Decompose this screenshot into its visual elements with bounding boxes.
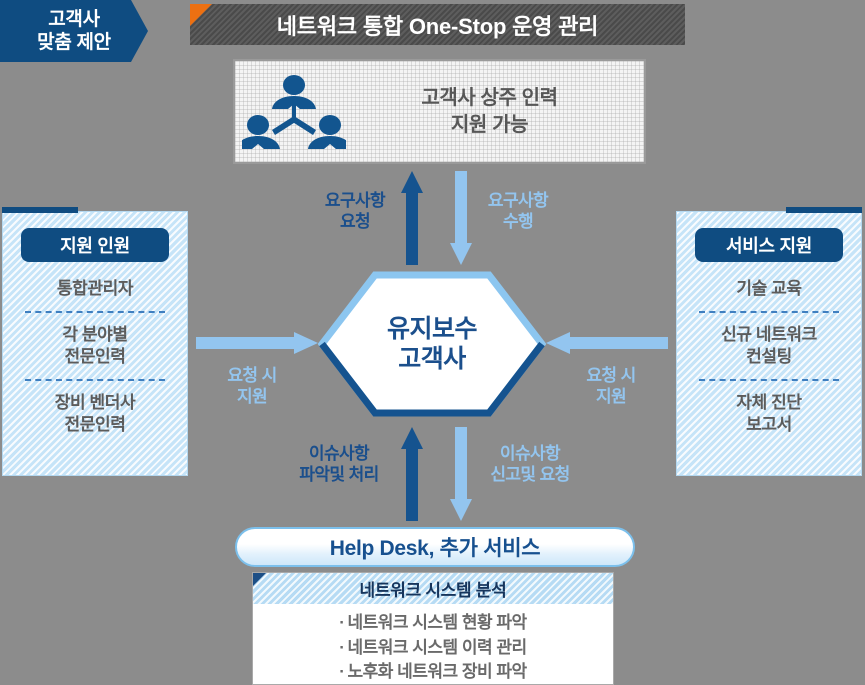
arrow-left-support-on-request <box>196 332 318 354</box>
label-line2: 요청 <box>300 211 410 232</box>
onsite-staff-label: 고객사 상주 인력 지원 가능 <box>353 85 644 138</box>
service-support-item-1: 기술 교육 <box>677 276 861 302</box>
label-requirement-execution: 요구사항 수행 <box>463 190 573 233</box>
panel-divider <box>25 379 165 381</box>
corner-tag-badge: 고객사 맞춤 제안 <box>0 0 148 62</box>
bullet-icon: · <box>339 613 344 632</box>
arrow-issue-handling <box>401 427 423 521</box>
corner-tag-line1: 고객사 <box>48 8 100 31</box>
label-issue-handling: 이슈사항 파악및 처리 <box>274 443 404 486</box>
onsite-staff-box: 고객사 상주 인력 지원 가능 <box>233 59 646 164</box>
label-line1: 요청 시 <box>198 365 306 386</box>
service-support-item-2: 신규 네트워크컨설팅 <box>677 322 861 370</box>
network-analysis-box: 네트워크 시스템 분석 ·네트워크 시스템 현황 파악 ·네트워크 시스템 이력… <box>252 572 614 685</box>
list-item: ·노후화 네트워크 장비 파악 <box>253 660 613 685</box>
people-network-icon <box>235 75 353 149</box>
label-line2: 지원 <box>198 386 306 407</box>
list-item-label: 네트워크 시스템 이력 관리 <box>347 638 526 657</box>
service-support-header: 서비스 지원 <box>695 228 843 262</box>
list-item: ·네트워크 시스템 이력 관리 <box>253 636 613 661</box>
label-line1: 이슈사항 <box>274 443 404 464</box>
onsite-staff-line1: 고객사 상주 인력 <box>353 85 626 111</box>
arrow-right-support-on-request <box>546 332 668 354</box>
corner-tag-line2: 맞춤 제안 <box>37 31 111 54</box>
list-item-label: 노후화 네트워크 장비 파악 <box>347 662 526 681</box>
support-personnel-panel: 지원 인원 통합관리자 각 분야별전문인력 장비 벤더사전문인력 <box>2 211 188 476</box>
network-analysis-title: 네트워크 시스템 분석 <box>360 576 507 601</box>
support-personnel-item-1: 통합관리자 <box>3 276 187 302</box>
label-line1: 요구사항 <box>300 190 410 211</box>
panel-divider <box>699 311 839 313</box>
network-analysis-header: 네트워크 시스템 분석 <box>253 573 613 604</box>
service-support-item-3: 자체 진단보고서 <box>677 390 861 438</box>
support-personnel-header: 지원 인원 <box>21 228 169 262</box>
support-personnel-item-2: 각 분야별전문인력 <box>3 322 187 370</box>
orange-corner-triangle-icon <box>190 4 212 26</box>
label-line1: 요청 시 <box>557 365 665 386</box>
helpdesk-pill[interactable]: Help Desk, 추가 서비스 <box>235 527 635 567</box>
helpdesk-label: Help Desk, 추가 서비스 <box>330 532 541 562</box>
label-requirement-request: 요구사항 요청 <box>300 190 410 233</box>
network-analysis-list: ·네트워크 시스템 현황 파악 ·네트워크 시스템 이력 관리 ·노후화 네트워… <box>253 604 613 685</box>
onsite-staff-line2: 지원 가능 <box>353 112 626 138</box>
bullet-icon: · <box>339 638 344 657</box>
label-line1: 요구사항 <box>463 190 573 211</box>
support-personnel-item-3: 장비 벤더사전문인력 <box>3 390 187 438</box>
panel-divider <box>699 379 839 381</box>
label-line2: 수행 <box>463 211 573 232</box>
panel-divider <box>25 311 165 313</box>
label-left-support-on-request: 요청 시 지원 <box>198 365 306 408</box>
navy-corner-triangle-icon <box>253 573 266 586</box>
center-hexagon: 유지보수 고객사 <box>318 271 546 417</box>
label-line1: 이슈사항 <box>465 443 595 464</box>
label-line2: 지원 <box>557 386 665 407</box>
service-support-panel: 서비스 지원 기술 교육 신규 네트워크컨설팅 자체 진단보고서 <box>676 211 862 476</box>
list-item-label: 네트워크 시스템 현황 파악 <box>347 613 526 632</box>
list-item: ·네트워크 시스템 현황 파악 <box>253 611 613 636</box>
bullet-icon: · <box>339 662 344 681</box>
label-issue-report: 이슈사항 신고및 요청 <box>465 443 595 486</box>
diagram-canvas: 고객사 맞춤 제안 네트워크 통합 One-Stop 운영 관리 <box>0 0 865 685</box>
label-right-support-on-request: 요청 시 지원 <box>557 365 665 408</box>
title-banner: 네트워크 통합 One-Stop 운영 관리 <box>190 4 685 45</box>
panel-accent-bar <box>786 207 862 213</box>
label-line2: 신고및 요청 <box>465 464 595 485</box>
label-line2: 파악및 처리 <box>274 464 404 485</box>
page-title: 네트워크 통합 One-Stop 운영 관리 <box>277 9 598 41</box>
panel-accent-bar <box>2 207 78 213</box>
